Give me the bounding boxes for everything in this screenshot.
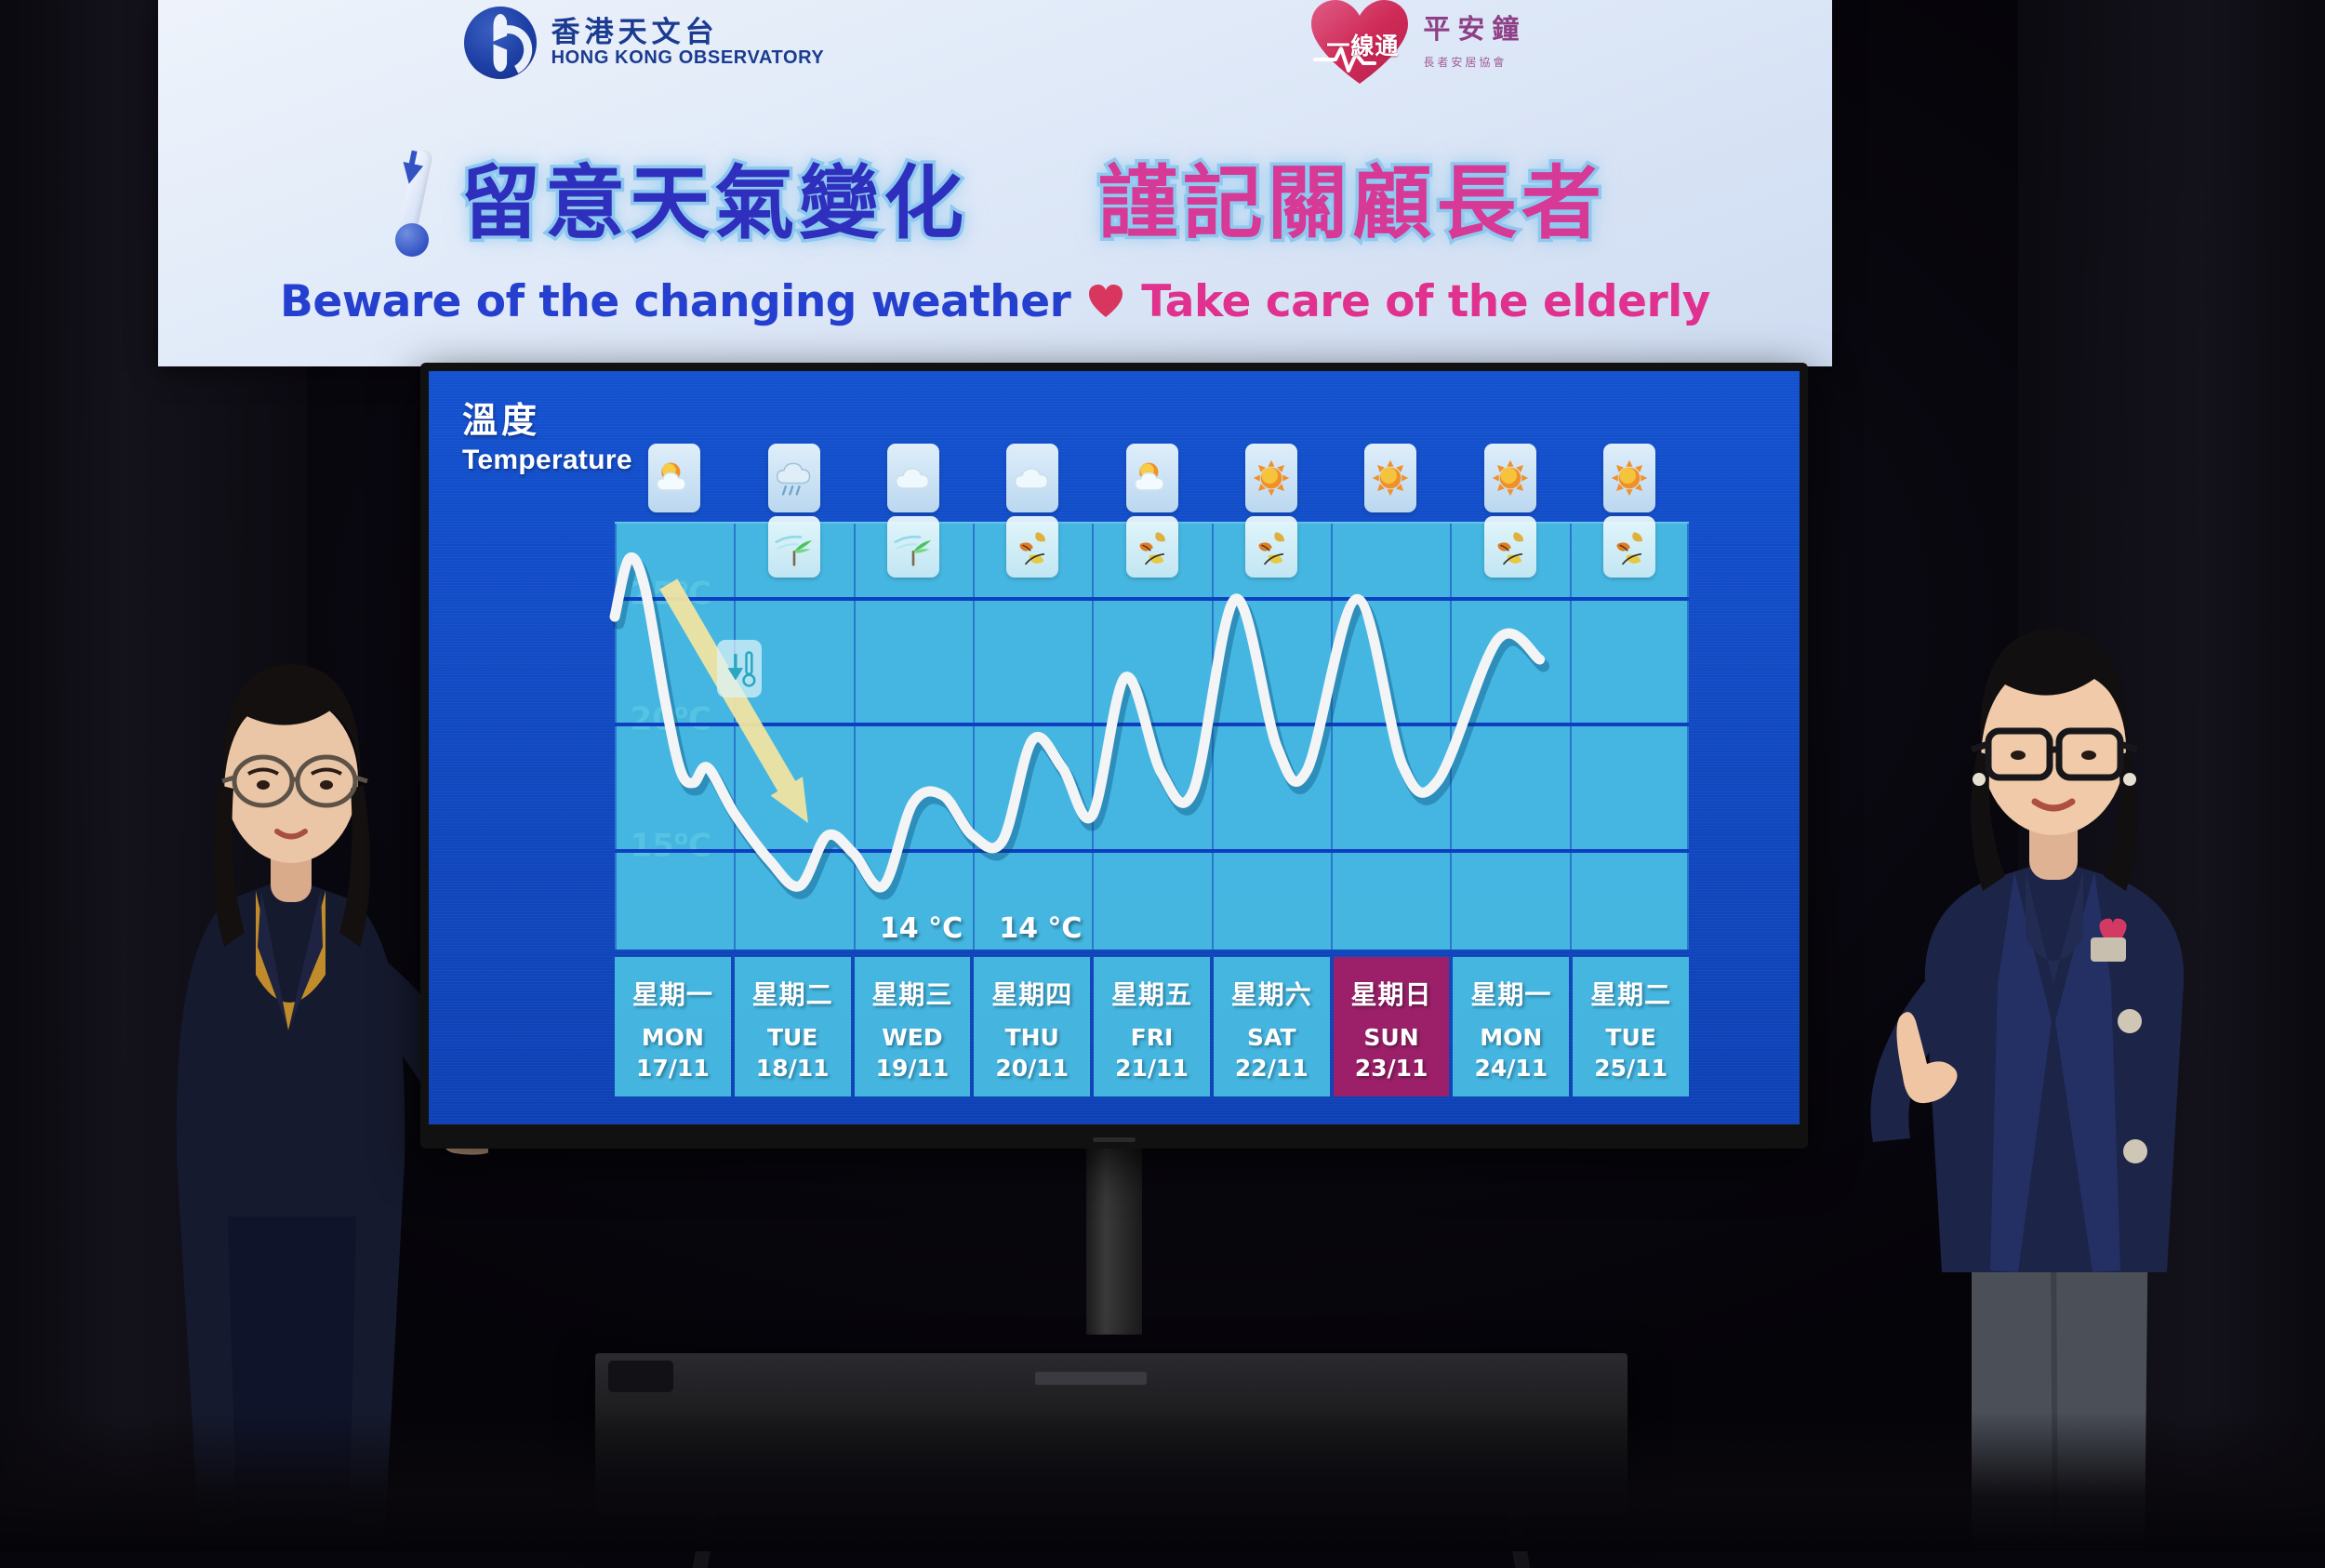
forecast-day-cell-tue-25-11[interactable]: 星期二TUE25/11 — [1573, 957, 1689, 1096]
shsa-main-text: 平安鐘 — [1423, 16, 1526, 46]
chart-title: 溫度 Temperature — [462, 392, 632, 476]
dry-leaves-icon — [1245, 516, 1297, 578]
temperature-plot-area: 14 °C 14 °C — [615, 522, 1689, 950]
forecast-day-cell-tue-18-11[interactable]: 星期二TUE18/11 — [735, 957, 851, 1096]
forecast-day-cell-mon-17-11[interactable]: 星期一MON17/11 — [615, 957, 731, 1096]
hko-logo-zh: 香港天文台 — [551, 18, 825, 48]
forecast-day-cell-sun-23-11[interactable]: 星期日SUN23/11 — [1334, 957, 1450, 1096]
sun-icon — [1245, 444, 1297, 512]
dry-leaves-icon — [1484, 516, 1536, 578]
day-label-en: MON — [642, 1024, 704, 1051]
shsa-logo: 一線通 平安鐘 長者安居協會 — [1308, 0, 1526, 89]
banner-headline: 留意天氣變化 謹記關顧長者 — [158, 134, 1832, 273]
forecast-day-cell-sat-22-11[interactable]: 星期六SAT22/11 — [1214, 957, 1330, 1096]
day-label-zh: 星期三 — [871, 975, 952, 1012]
stage-floor — [0, 1412, 2325, 1551]
sun-icon — [1484, 444, 1536, 512]
day-label-date: 17/11 — [636, 1055, 710, 1082]
hko-spiral-logo-icon — [464, 7, 537, 79]
day-label-date: 20/11 — [995, 1055, 1069, 1082]
forecast-day-cell-wed-19-11[interactable]: 星期三WED19/11 — [855, 957, 971, 1096]
forecast-day-cell-mon-24-11[interactable]: 星期一MON24/11 — [1453, 957, 1569, 1096]
hko-logo-en: HONG KONG OBSERVATORY — [551, 48, 825, 68]
day-label-zh: 星期五 — [1111, 975, 1192, 1012]
annotation-low-temp-2: 14 °C — [999, 912, 1082, 945]
day-label-date: 22/11 — [1235, 1055, 1309, 1082]
chart-title-en: Temperature — [462, 445, 632, 476]
shsa-heart-text: 一線通 — [1322, 28, 1402, 61]
day-label-en: SUN — [1363, 1024, 1418, 1051]
day-label-date: 18/11 — [756, 1055, 830, 1082]
sun-icon — [1603, 444, 1655, 512]
base-slot — [1035, 1372, 1147, 1385]
television: 溫度 Temperature 25oC 20oC 15oC — [420, 363, 1808, 1149]
headline-zh-line: 留意天氣變化 謹記關顧長者 — [460, 164, 1606, 244]
day-label-date: 25/11 — [1594, 1055, 1667, 1082]
day-label-en: THU — [1005, 1024, 1059, 1051]
banner-logo-row: 香港天文台 HONG KONG OBSERVATORY — [158, 0, 1832, 86]
subtitle-en-part2: Take care of the elderly — [1141, 276, 1710, 327]
day-label-en: SAT — [1247, 1024, 1295, 1051]
day-label-zh: 星期一 — [1470, 975, 1551, 1012]
sun-behind-cloud-icon — [1126, 444, 1178, 512]
day-label-en: WED — [882, 1024, 942, 1051]
tv-screen: 溫度 Temperature 25oC 20oC 15oC — [429, 371, 1800, 1124]
day-label-date: 24/11 — [1474, 1055, 1548, 1082]
windy-tree-icon — [768, 516, 820, 578]
tv-stand-neck — [1014, 1149, 1214, 1372]
dry-leaves-icon — [1126, 516, 1178, 578]
shsa-logo-text: 平安鐘 長者安居協會 — [1423, 16, 1526, 69]
headline-zh-part1: 留意天氣變化 — [460, 157, 968, 250]
annotation-low-temp-1: 14 °C — [880, 912, 963, 945]
chart-title-zh: 溫度 — [462, 392, 632, 443]
heart-icon — [1087, 284, 1124, 319]
subtitle-en-part1: Beware of the changing weather — [280, 276, 1070, 327]
day-label-zh: 星期一 — [632, 975, 713, 1012]
day-label-en: TUE — [767, 1024, 817, 1051]
presenter-right — [1832, 500, 2269, 1551]
day-label-zh: 星期四 — [991, 975, 1072, 1012]
forecast-day-cell-thu-20-11[interactable]: 星期四THU20/11 — [974, 957, 1090, 1096]
heart-ecg-logo-icon: 一線通 — [1308, 0, 1412, 89]
day-label-en: FRI — [1131, 1024, 1174, 1051]
day-label-date: 23/11 — [1355, 1055, 1428, 1082]
dry-leaves-icon — [1603, 516, 1655, 578]
media-device — [608, 1361, 673, 1392]
forecast-day-cell-fri-21-11[interactable]: 星期五FRI21/11 — [1094, 957, 1210, 1096]
day-label-zh: 星期二 — [1590, 975, 1671, 1012]
rain-cloud-icon — [768, 444, 820, 512]
forecast-day-table: 星期一MON17/11星期二TUE18/11星期三WED19/11星期四THU2… — [615, 957, 1689, 1096]
day-label-zh: 星期二 — [752, 975, 833, 1012]
cloud-icon — [1006, 444, 1058, 512]
banner-subtitle: Beware of the changing weather Take care… — [158, 273, 1832, 329]
day-label-date: 19/11 — [876, 1055, 950, 1082]
sun-behind-cloud-icon — [648, 444, 700, 512]
hko-logo: 香港天文台 HONG KONG OBSERVATORY — [464, 7, 825, 79]
headline-zh-part2: 謹記關顧長者 — [1098, 157, 1606, 250]
thermometer-down-icon — [384, 143, 444, 264]
day-label-zh: 星期六 — [1231, 975, 1312, 1012]
temperature-drop-badge-icon — [717, 640, 762, 698]
day-label-zh: 星期日 — [1351, 975, 1432, 1012]
temperature-line-series — [615, 524, 1689, 951]
cloud-icon — [887, 444, 939, 512]
day-label-en: TUE — [1605, 1024, 1655, 1051]
sun-icon — [1364, 444, 1416, 512]
windy-tree-icon — [887, 516, 939, 578]
hko-logo-text: 香港天文台 HONG KONG OBSERVATORY — [551, 18, 825, 68]
press-conference-banner: 香港天文台 HONG KONG OBSERVATORY — [158, 0, 1832, 366]
shsa-sub-text: 長者安居協會 — [1423, 57, 1526, 69]
day-label-en: MON — [1480, 1024, 1542, 1051]
dry-leaves-icon — [1006, 516, 1058, 578]
day-label-date: 21/11 — [1115, 1055, 1189, 1082]
